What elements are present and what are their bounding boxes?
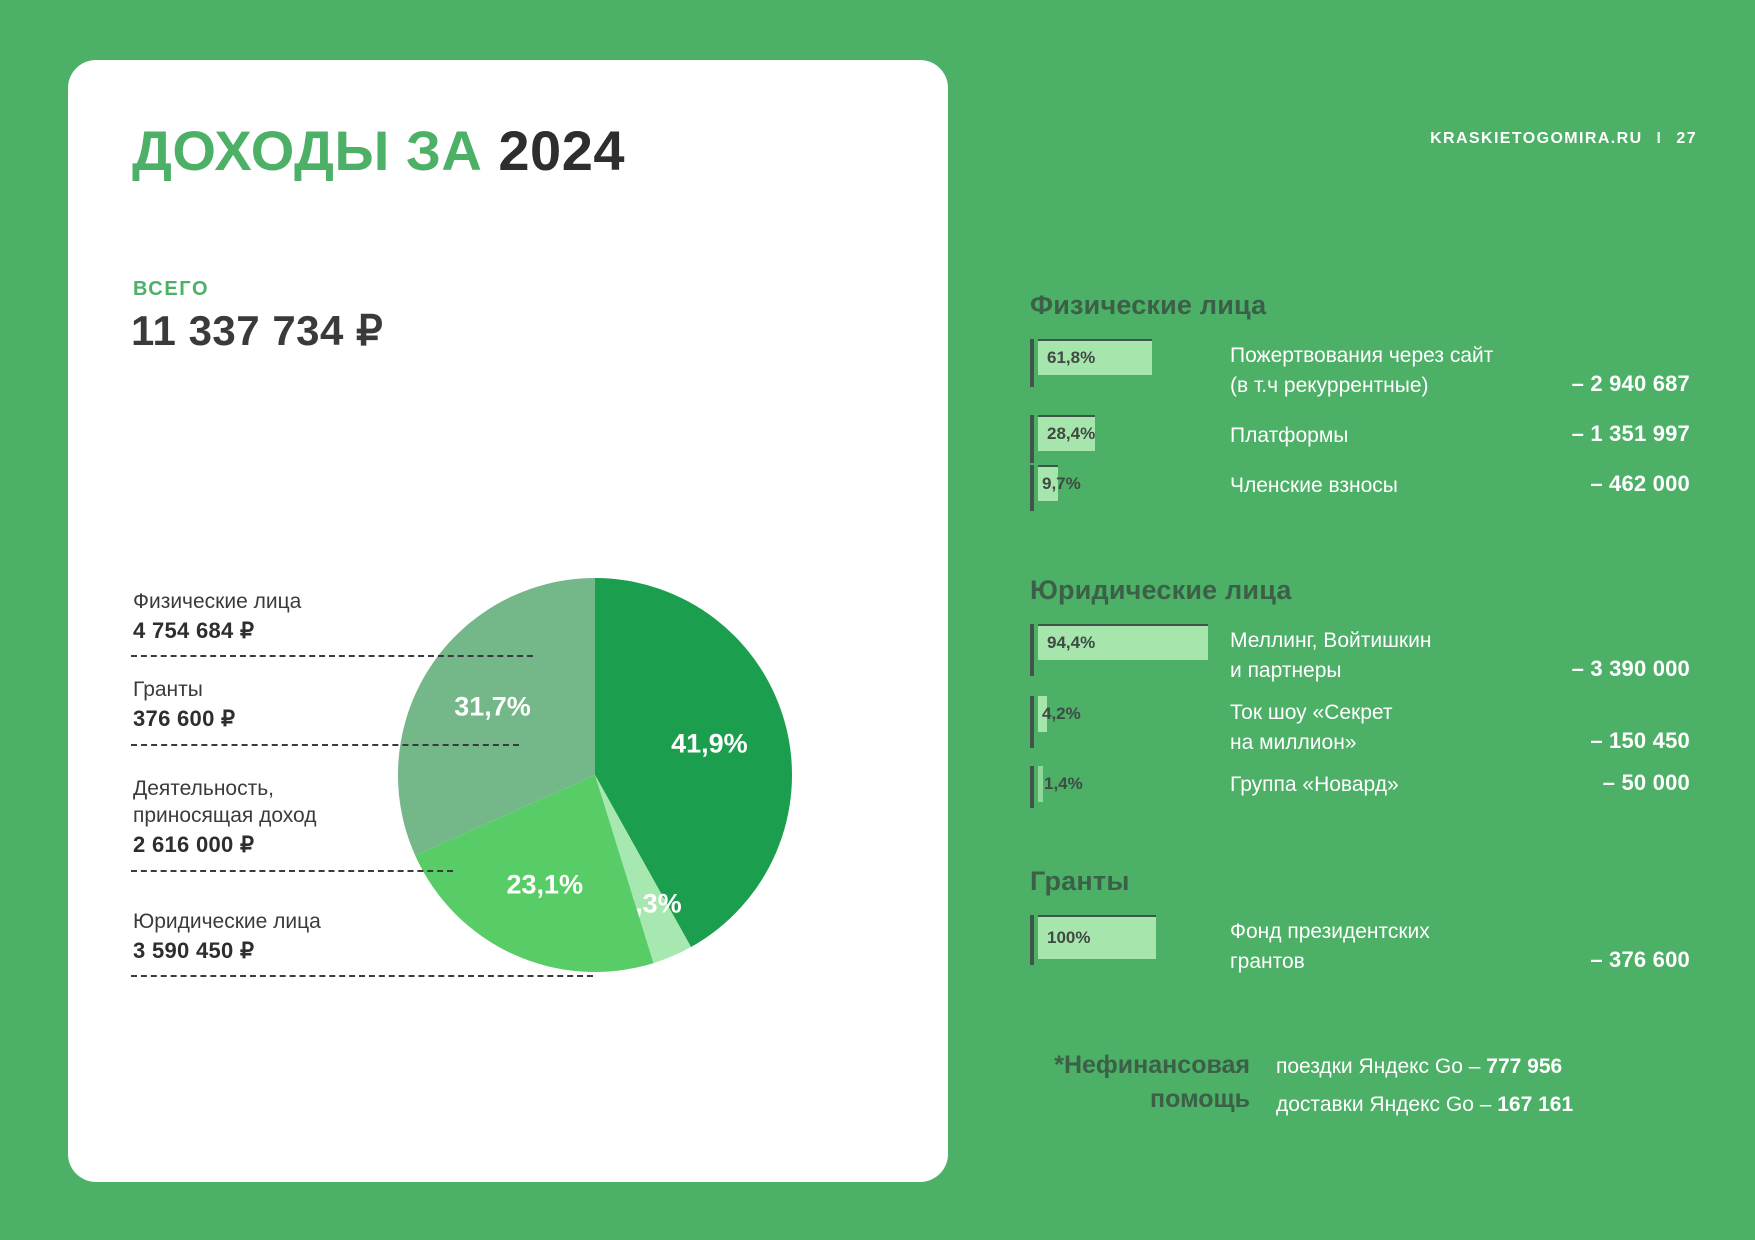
- row-text: Членские взносы – 462 000: [1230, 465, 1690, 501]
- bar-axis: [1030, 696, 1034, 748]
- pie-legend-value: 4 754 684 ₽: [133, 618, 603, 644]
- bar-fill: 28,4%: [1038, 415, 1095, 451]
- pie-legend-name: Деятельность, приносящая доход: [133, 775, 603, 829]
- row-name: Группа «Новард»: [1230, 770, 1399, 800]
- row-name: Фонд президентских грантов: [1230, 917, 1430, 977]
- pie-legend-name: Физические лица: [133, 588, 603, 615]
- footnote-label: *Нефинансовая помощь: [1020, 1048, 1250, 1124]
- bar-column: 1,4%: [1030, 766, 1230, 802]
- pie-slice-label: 41,9%: [671, 728, 748, 758]
- footnote: *Нефинансовая помощь поездки Яндекс Go –…: [1020, 1048, 1700, 1124]
- bar-fill: 1,4%: [1038, 766, 1043, 802]
- bar-axis: [1030, 624, 1034, 676]
- breakdown-row: 28,4% Платформы – 1 351 997: [1030, 415, 1690, 451]
- bar-axis: [1030, 915, 1034, 965]
- row-amount: – 50 000: [1603, 770, 1690, 796]
- row-text: Ток шоу «Секрет на миллион» – 150 450: [1230, 696, 1690, 758]
- page-title-year: 2024: [498, 119, 625, 182]
- pie-legend-name: Гранты: [133, 676, 603, 703]
- breakdown-group-individuals: Физические лица 61,8% Пожертвования чере…: [1030, 290, 1690, 501]
- bar-column: 100%: [1030, 915, 1230, 959]
- bar-percent: 100%: [1038, 928, 1090, 948]
- bar-axis: [1030, 415, 1034, 463]
- breakdown-group-grants: Гранты 100% Фонд президентских грантов –…: [1030, 866, 1690, 977]
- bar-fill: 94,4%: [1038, 624, 1208, 660]
- brand-footer: KRASKIETOGOMIRA.RU I 27: [1430, 130, 1697, 148]
- group-title: Гранты: [1030, 866, 1690, 897]
- pie-legend-value: 3 590 450 ₽: [133, 938, 603, 964]
- row-name: Меллинг, Войтишкин и партнеры: [1230, 626, 1431, 686]
- row-text: Фонд президентских грантов – 376 600: [1230, 915, 1690, 977]
- group-title: Физические лица: [1030, 290, 1690, 321]
- bar-fill: 61,8%: [1038, 339, 1152, 375]
- footnote-line-1: поездки Яндекс Go – 777 956: [1276, 1048, 1573, 1086]
- pie-legend-item-2: Деятельность, приносящая доход 2 616 000…: [133, 775, 603, 858]
- row-amount: – 1 351 997: [1572, 421, 1690, 447]
- brand-separator: I: [1657, 130, 1663, 148]
- total-value: 11 337 734 ₽: [131, 306, 383, 355]
- row-text: Меллинг, Войтишкин и партнеры – 3 390 00…: [1230, 624, 1690, 686]
- row-amount: – 462 000: [1590, 471, 1690, 497]
- page-title-accent: ДОХОДЫ ЗА: [132, 119, 482, 182]
- row-amount: – 2 940 687: [1572, 341, 1690, 397]
- pie-legend-value: 376 600 ₽: [133, 706, 603, 732]
- leader-line-3: [131, 975, 593, 977]
- leader-line-0: [131, 655, 533, 657]
- brand-site: KRASKIETOGOMIRA.RU: [1430, 130, 1642, 148]
- bar-column: 61,8%: [1030, 339, 1230, 375]
- row-name: Членские взносы: [1230, 471, 1398, 501]
- row-name: Платформы: [1230, 421, 1348, 451]
- pie-legend-item-0: Физические лица 4 754 684 ₽: [133, 588, 603, 644]
- bar-column: 9,7%: [1030, 465, 1230, 501]
- bar-column: 28,4%: [1030, 415, 1230, 451]
- breakdown-group-legal-entities: Юридические лица 94,4% Меллинг, Войтишки…: [1030, 575, 1690, 802]
- bar-fill: 4,2%: [1038, 696, 1047, 732]
- bar-percent: 28,4%: [1038, 424, 1095, 444]
- breakdown-row: 9,7% Членские взносы – 462 000: [1030, 465, 1690, 501]
- row-name: Ток шоу «Секрет на миллион»: [1230, 698, 1393, 758]
- bar-axis: [1030, 465, 1034, 511]
- breakdown-panel: Физические лица 61,8% Пожертвования чере…: [1030, 290, 1690, 983]
- pie-legend-value: 2 616 000 ₽: [133, 832, 603, 858]
- row-text: Группа «Новард» – 50 000: [1230, 766, 1690, 800]
- pie-legend-item-1: Гранты 376 600 ₽: [133, 676, 603, 732]
- footnote-line-2: доставки Яндекс Go – 167 161: [1276, 1086, 1573, 1124]
- breakdown-row: 1,4% Группа «Новард» – 50 000: [1030, 766, 1690, 802]
- footnote-line-1-text: поездки Яндекс Go –: [1276, 1055, 1486, 1078]
- row-text: Платформы – 1 351 997: [1230, 415, 1690, 451]
- footnote-values: поездки Яндекс Go – 777 956 доставки Янд…: [1276, 1048, 1573, 1124]
- leader-line-1: [131, 744, 519, 746]
- row-amount: – 376 600: [1590, 917, 1690, 973]
- breakdown-row: 94,4% Меллинг, Войтишкин и партнеры – 3 …: [1030, 624, 1690, 686]
- breakdown-row: 100% Фонд президентских грантов – 376 60…: [1030, 915, 1690, 977]
- pie-slice-label: 23,1%: [506, 869, 583, 899]
- pie-legend-item-3: Юридические лица 3 590 450 ₽: [133, 908, 603, 964]
- leader-line-2: [131, 870, 453, 872]
- bar-percent: 4,2%: [1038, 704, 1081, 724]
- breakdown-row: 4,2% Ток шоу «Секрет на миллион» – 150 4…: [1030, 696, 1690, 758]
- breakdown-row: 61,8% Пожертвования через сайт (в т.ч ре…: [1030, 339, 1690, 401]
- footnote-line-2-text: доставки Яндекс Go –: [1276, 1093, 1497, 1116]
- bar-fill: 100%: [1038, 915, 1156, 959]
- group-title: Юридические лица: [1030, 575, 1690, 606]
- page-title: ДОХОДЫ ЗА 2024: [132, 118, 625, 183]
- bar-axis: [1030, 339, 1034, 387]
- page-number: 27: [1676, 130, 1697, 148]
- row-amount: – 3 390 000: [1572, 626, 1690, 682]
- bar-column: 94,4%: [1030, 624, 1230, 660]
- row-amount: – 150 450: [1590, 698, 1690, 754]
- bar-percent: 61,8%: [1038, 348, 1095, 368]
- pie-legend-name: Юридические лица: [133, 908, 603, 935]
- footnote-line-1-value: 777 956: [1486, 1055, 1562, 1078]
- footnote-line-2-value: 167 161: [1497, 1093, 1573, 1116]
- total-label: ВСЕГО: [133, 278, 209, 301]
- row-name: Пожертвования через сайт (в т.ч рекуррен…: [1230, 341, 1493, 401]
- bar-column: 4,2%: [1030, 696, 1230, 732]
- bar-axis: [1030, 766, 1034, 808]
- bar-percent: 9,7%: [1038, 474, 1081, 494]
- bar-percent: 1,4%: [1038, 774, 1083, 794]
- bar-fill: 9,7%: [1038, 465, 1058, 501]
- row-text: Пожертвования через сайт (в т.ч рекуррен…: [1230, 339, 1690, 401]
- bar-percent: 94,4%: [1038, 633, 1095, 653]
